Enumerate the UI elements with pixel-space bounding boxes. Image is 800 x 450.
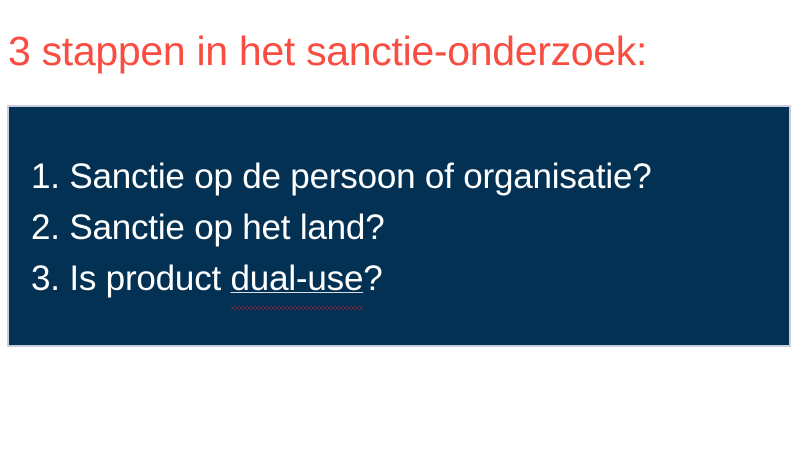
page-title: 3 stappen in het sanctie-onderzoek: <box>8 22 798 80</box>
step-text: Sanctie op de persoon of organisatie? <box>69 157 651 196</box>
step-list: 1. Sanctie op de persoon of organisatie?… <box>31 151 779 304</box>
list-item: 3. Is product dual-use? <box>31 253 779 304</box>
list-item: 1. Sanctie op de persoon of organisatie? <box>31 151 779 202</box>
spellcheck-underlined-term: dual-use <box>231 253 364 304</box>
step-text-trailing: ? <box>363 259 382 298</box>
step-number: 3. <box>31 259 60 298</box>
step-text: Is product <box>69 259 230 298</box>
step-number: 2. <box>31 208 60 247</box>
step-text: Sanctie op het land? <box>69 208 384 247</box>
slide-canvas: 3 stappen in het sanctie-onderzoek: 1. S… <box>0 0 800 450</box>
list-item: 2. Sanctie op het land? <box>31 202 779 253</box>
step-number: 1. <box>31 157 60 196</box>
content-box: 1. Sanctie op de persoon of organisatie?… <box>7 105 791 347</box>
